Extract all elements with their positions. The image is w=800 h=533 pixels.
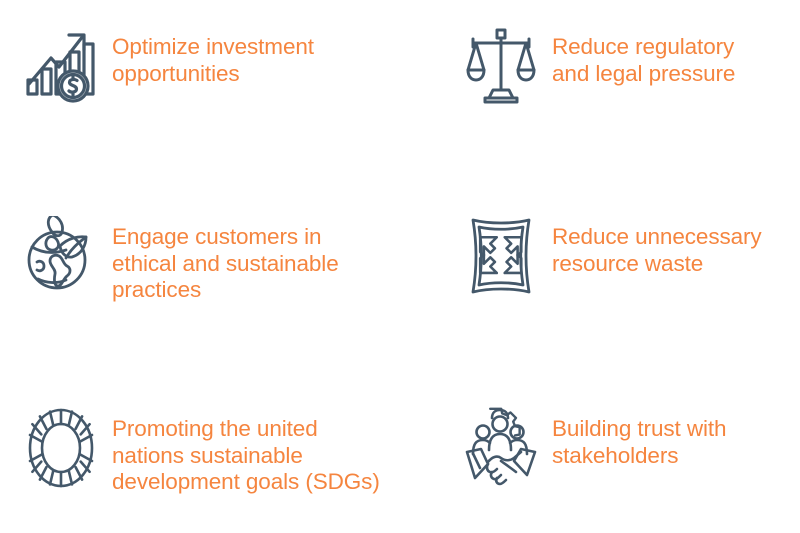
handshake-people-gear-icon [458, 402, 544, 506]
benefit-label: Building trust with stakeholders [544, 402, 800, 469]
benefit-label: Optimize investment opportunities [104, 22, 420, 87]
benefit-item-optimize-investment-opportunities: Optimize investment opportunities [0, 0, 420, 190]
globe-leaves-icon [18, 212, 104, 316]
growth-chart-dollar-icon [18, 22, 104, 126]
benefit-label: Promoting the united nations sustainable… [104, 402, 420, 496]
benefit-label: Engage customers in ethical and sustaina… [104, 212, 420, 304]
compress-inward-arrows-icon [458, 212, 544, 316]
sdg-wheel-icon [18, 402, 104, 506]
benefit-item-reduce-unnecessary-resource-waste: Reduce unnecessary resource waste [420, 190, 800, 380]
benefit-label: Reduce regulatory and legal pressure [544, 22, 800, 87]
benefit-label: Reduce unnecessary resource waste [544, 212, 800, 277]
benefit-item-promoting-the-united-nations-sustainable-development-goals: Promoting the united nations sustainable… [0, 380, 420, 533]
benefit-item-reduce-regulatory-and-legal-pressure: Reduce regulatory and legal pressure [420, 0, 800, 190]
benefit-item-building-trust-with-stakeholders: Building trust with stakeholders [420, 380, 800, 533]
benefits-grid: Optimize investment opportunities [0, 0, 800, 533]
benefit-item-engage-customers-ethical-sustainable-practices: Engage customers in ethical and sustaina… [0, 190, 420, 380]
balance-scales-icon [458, 22, 544, 126]
